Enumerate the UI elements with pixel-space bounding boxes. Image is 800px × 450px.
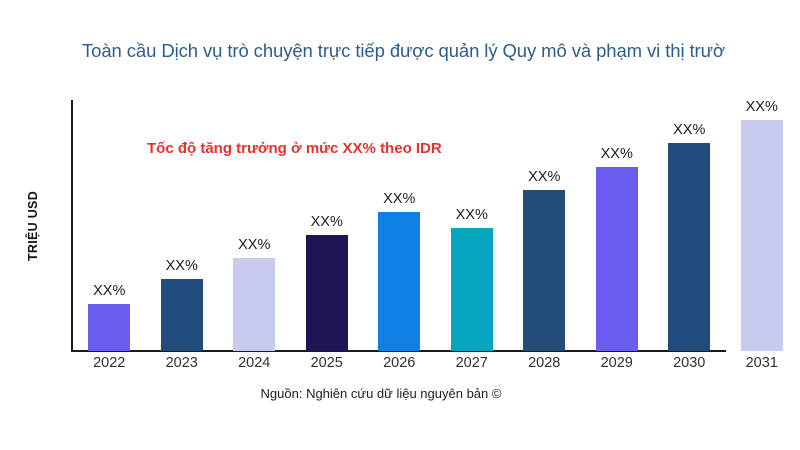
chart-container: Toàn cầu Dịch vụ trò chuyện trực tiếp đư… xyxy=(0,0,800,450)
bar-2023[interactable] xyxy=(161,279,203,351)
x-tick-2022: 2022 xyxy=(73,355,146,371)
bar-group: XX% xyxy=(581,100,654,351)
x-tick-2025: 2025 xyxy=(291,355,364,371)
bar-value-label-2029: XX% xyxy=(601,146,633,162)
x-tick-2024: 2024 xyxy=(218,355,291,371)
bar-2027[interactable] xyxy=(451,228,493,351)
x-tick-2031: 2031 xyxy=(726,355,799,371)
y-axis-label: TRIỆU USD xyxy=(26,191,40,261)
bar-2025[interactable] xyxy=(306,235,348,351)
source-note: Nguồn: Nghiên cứu dữ liệu nguyên bản © xyxy=(0,386,762,401)
bar-group: XX% xyxy=(653,100,726,351)
x-tick-2026: 2026 xyxy=(363,355,436,371)
bar-value-label-2026: XX% xyxy=(383,191,415,207)
x-tick-2030: 2030 xyxy=(653,355,726,371)
bar-group: XX% xyxy=(363,100,436,351)
growth-rate-annotation: Tốc độ tăng trưởng ở mức XX% theo IDR xyxy=(147,140,442,157)
chart-title: Toàn cầu Dịch vụ trò chuyện trực tiếp đư… xyxy=(82,37,800,65)
bar-2031[interactable] xyxy=(741,120,783,351)
x-axis-tick-labels: 2022202320242025202620272028202920302031 xyxy=(73,355,800,379)
bar-value-label-2025: XX% xyxy=(311,214,343,230)
x-tick-2027: 2027 xyxy=(436,355,509,371)
bar-2030[interactable] xyxy=(668,143,710,351)
x-tick-2028: 2028 xyxy=(508,355,581,371)
bar-group: XX% xyxy=(726,100,799,351)
bar-value-label-2027: XX% xyxy=(456,207,488,223)
bar-group: XX% xyxy=(436,100,509,351)
bar-group: XX% xyxy=(146,100,219,351)
bar-2024[interactable] xyxy=(233,258,275,351)
bar-value-label-2028: XX% xyxy=(528,169,560,185)
bar-group: XX% xyxy=(508,100,581,351)
bar-value-label-2031: XX% xyxy=(746,99,778,115)
x-tick-2023: 2023 xyxy=(146,355,219,371)
plot-area: XX%XX%XX%XX%XX%XX%XX%XX%XX%XX% xyxy=(73,100,800,351)
bar-value-label-2022: XX% xyxy=(93,283,125,299)
bar-2029[interactable] xyxy=(596,167,638,351)
bar-value-label-2024: XX% xyxy=(238,237,270,253)
bar-2026[interactable] xyxy=(378,212,420,351)
y-axis-label-wrapper: TRIỆU USD xyxy=(20,100,46,352)
bar-value-label-2030: XX% xyxy=(673,122,705,138)
bar-2028[interactable] xyxy=(523,190,565,351)
bar-group: XX% xyxy=(73,100,146,351)
x-tick-2029: 2029 xyxy=(581,355,654,371)
bar-group: XX% xyxy=(218,100,291,351)
bar-value-label-2023: XX% xyxy=(166,258,198,274)
bar-2022[interactable] xyxy=(88,304,130,351)
bar-group: XX% xyxy=(291,100,364,351)
